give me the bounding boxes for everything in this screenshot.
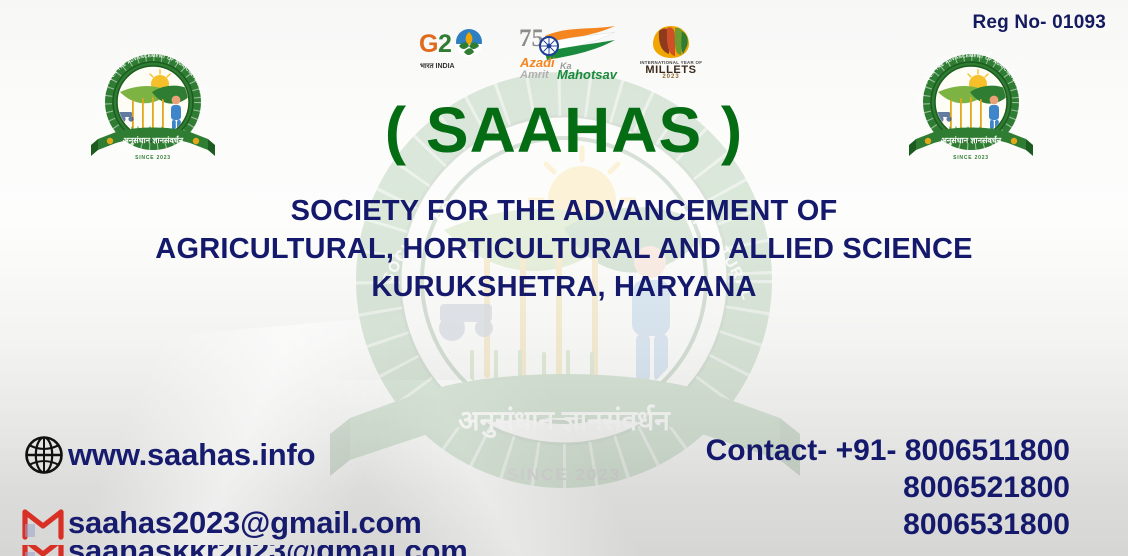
svg-text:Azadi: Azadi	[519, 55, 555, 70]
email-address-secondary[interactable]: saahaskkr2023@gmail.com	[68, 545, 468, 556]
svg-text:Amrit: Amrit	[519, 69, 550, 80]
svg-text:Mahotsav: Mahotsav	[557, 67, 618, 80]
website-row[interactable]: www.saahas.info	[22, 433, 315, 477]
campaign-logo-strip: G 2 भारत INDIA 75	[417, 22, 707, 82]
svg-text:G: G	[419, 30, 438, 58]
contact-phone-line-2[interactable]: 8006521800	[706, 469, 1070, 506]
international-year-of-millets-logo: INTERNATIONAL YEAR OF MILLETS 2023	[635, 22, 707, 83]
email-row-secondary[interactable]: saahaskkr2023@gmail.com	[22, 545, 468, 556]
contact-phone-line-3[interactable]: 8006531800	[706, 506, 1070, 543]
globe-icon	[22, 433, 66, 477]
svg-text:2023: 2023	[662, 74, 679, 78]
org-name-line-1: SOCIETY FOR THE ADVANCEMENT OF	[0, 192, 1128, 230]
org-name-line-3: KURUKSHETRA, HARYANA	[0, 268, 1128, 306]
organisation-name: SOCIETY FOR THE ADVANCEMENT OF AGRICULTU…	[0, 192, 1128, 306]
page-title-acronym: ( SAAHAS )	[0, 98, 1128, 162]
email-address[interactable]: saahas2023@gmail.com	[68, 505, 422, 541]
registration-number: Reg No- 01093	[972, 12, 1106, 34]
svg-text:2: 2	[438, 30, 452, 58]
svg-text:अनुसंधान ज्ञानसंवर्धन: अनुसंधान ज्ञानसंवर्धन	[458, 404, 671, 438]
presentation-slide: SOCIETY FOR THE ADVANCEMENT OF AGRICULTU…	[0, 0, 1128, 556]
g20-india-logo: G 2 भारत INDIA	[417, 22, 499, 81]
azadi-ka-amrit-mahotsav-logo: 75 Azadi Ka Amrit Mahotsav	[515, 22, 619, 85]
contact-phone-line-1[interactable]: Contact- +91- 8006511800	[706, 432, 1070, 469]
contact-phone-block: Contact- +91- 8006511800 8006521800 8006…	[706, 432, 1070, 543]
gmail-icon-secondary	[22, 545, 64, 556]
svg-text:SINCE 2023: SINCE 2023	[507, 465, 622, 484]
org-name-line-2: AGRICULTURAL, HORTICULTURAL AND ALLIED S…	[0, 230, 1128, 268]
email-row[interactable]: saahas2023@gmail.com	[22, 505, 422, 541]
g20-subtext: भारत INDIA	[420, 63, 455, 70]
gmail-icon	[22, 506, 64, 540]
website-url[interactable]: www.saahas.info	[68, 437, 315, 473]
